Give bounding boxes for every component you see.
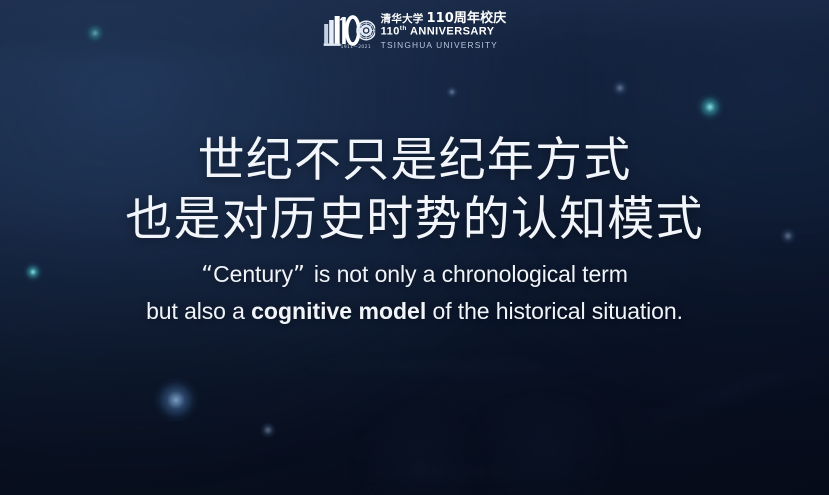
quote-open: “: [201, 262, 213, 288]
logo-chinese-line: 清华大学 110周年校庆: [381, 12, 507, 25]
logo-anniversary-word: ANNIVERSARY: [410, 26, 495, 38]
subhead-line-1: “Century”is not only a chronological ter…: [0, 256, 829, 293]
headline-line-1: 世纪不只是纪年方式: [0, 131, 829, 190]
logo-anniversary-number: 110: [381, 26, 400, 38]
header-band: 1911—2021 清华大学 110周年校庆 110th ANNIVERSARY…: [0, 0, 829, 66]
subhead-line-2: but also a cognitive model of the histor…: [0, 293, 829, 329]
logo-text-block: 清华大学 110周年校庆 110th ANNIVERSARY TSINGHUA …: [381, 13, 507, 50]
subhead-emphasis: cognitive model: [251, 298, 426, 324]
logo-university-en: TSINGHUA UNIVERSITY: [381, 40, 507, 51]
logo-anniversary-en: 110th ANNIVERSARY: [381, 25, 507, 39]
subhead-line-2-after: of the historical situation.: [426, 298, 683, 324]
anniversary-slide: 1911—2021 清华大学 110周年校庆 110th ANNIVERSARY…: [0, 0, 829, 495]
quoted-word: Century: [213, 261, 293, 287]
anniversary-110-mark-icon: 1911—2021: [323, 14, 375, 48]
logo-date-range: 1911—2021: [341, 45, 371, 50]
headline-block: 世纪不只是纪年方式 也是对历史时势的认知模式: [0, 131, 829, 249]
headline-line-2: 也是对历史时势的认知模式: [0, 190, 829, 249]
subhead-line-2-before: but also a: [146, 298, 251, 324]
logo-anniversary-cn: 110周年校庆: [426, 12, 506, 25]
quote-close: ”: [293, 262, 305, 288]
logo-anniversary-ordinal: th: [400, 25, 407, 32]
logo-university-cn: 清华大学: [381, 14, 424, 25]
subhead-block: “Century”is not only a chronological ter…: [0, 256, 829, 329]
tsinghua-anniversary-logo: 1911—2021 清华大学 110周年校庆 110th ANNIVERSARY…: [323, 13, 507, 49]
subhead-line-1-rest: is not only a chronological term: [314, 261, 628, 287]
